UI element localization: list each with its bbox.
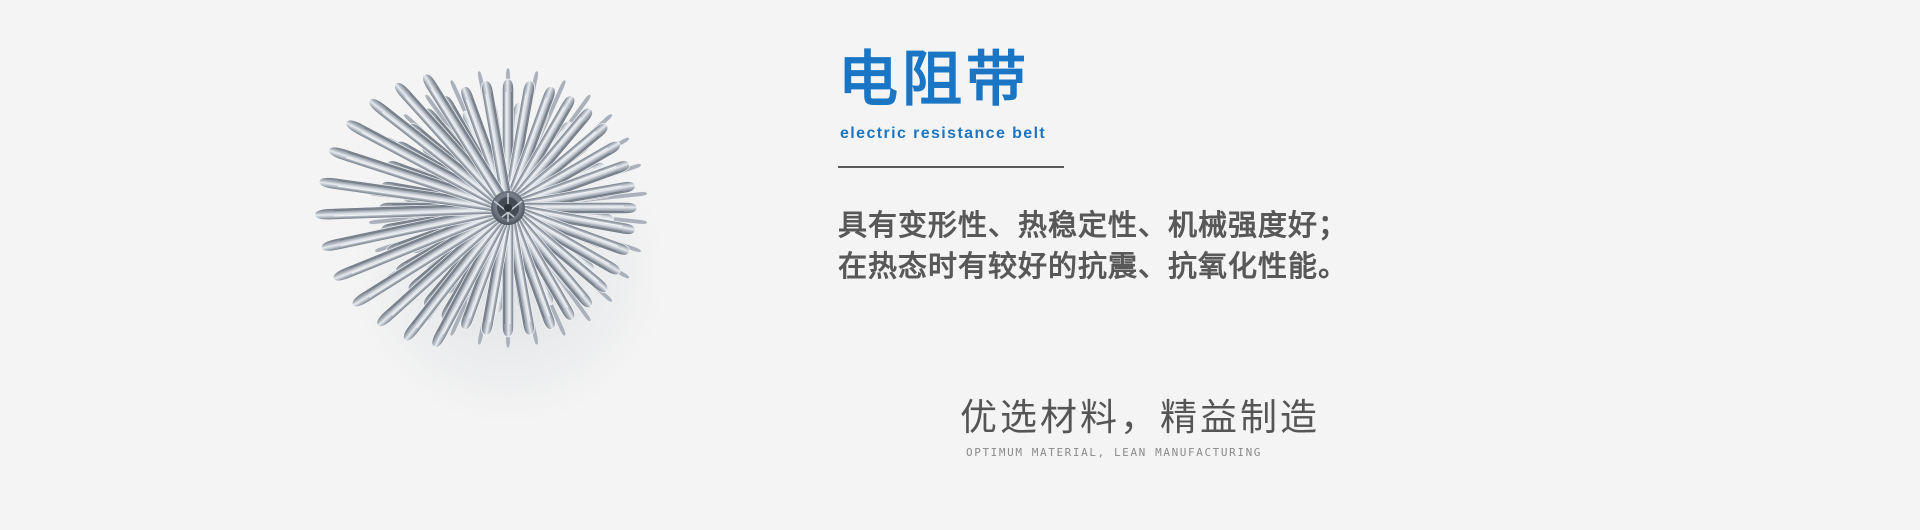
tagline-chinese: 优选材料，精益制造	[960, 398, 1520, 439]
page-subtitle: electric resistance belt	[840, 125, 1538, 143]
page-title: 电阻带	[838, 48, 1538, 113]
title-divider	[838, 166, 1064, 168]
product-banner: 电阻带 electric resistance belt 具有变形性、热稳定性、…	[0, 0, 1920, 530]
description-line-1: 具有变形性、热稳定性、机械强度好；	[838, 206, 1538, 247]
product-description: 具有变形性、热稳定性、机械强度好； 在热态时有较好的抗震、抗氧化性能。	[838, 206, 1538, 288]
tagline-english: OPTIMUM MATERIAL, LEAN MANUFACTURING	[966, 446, 1520, 459]
hub	[491, 191, 525, 225]
content-column: 电阻带 electric resistance belt 具有变形性、热稳定性、…	[838, 48, 1538, 288]
product-image	[300, 40, 720, 440]
description-line-2: 在热态时有较好的抗震、抗氧化性能。	[838, 247, 1538, 288]
tagline-block: 优选材料，精益制造 OPTIMUM MATERIAL, LEAN MANUFAC…	[960, 398, 1520, 459]
